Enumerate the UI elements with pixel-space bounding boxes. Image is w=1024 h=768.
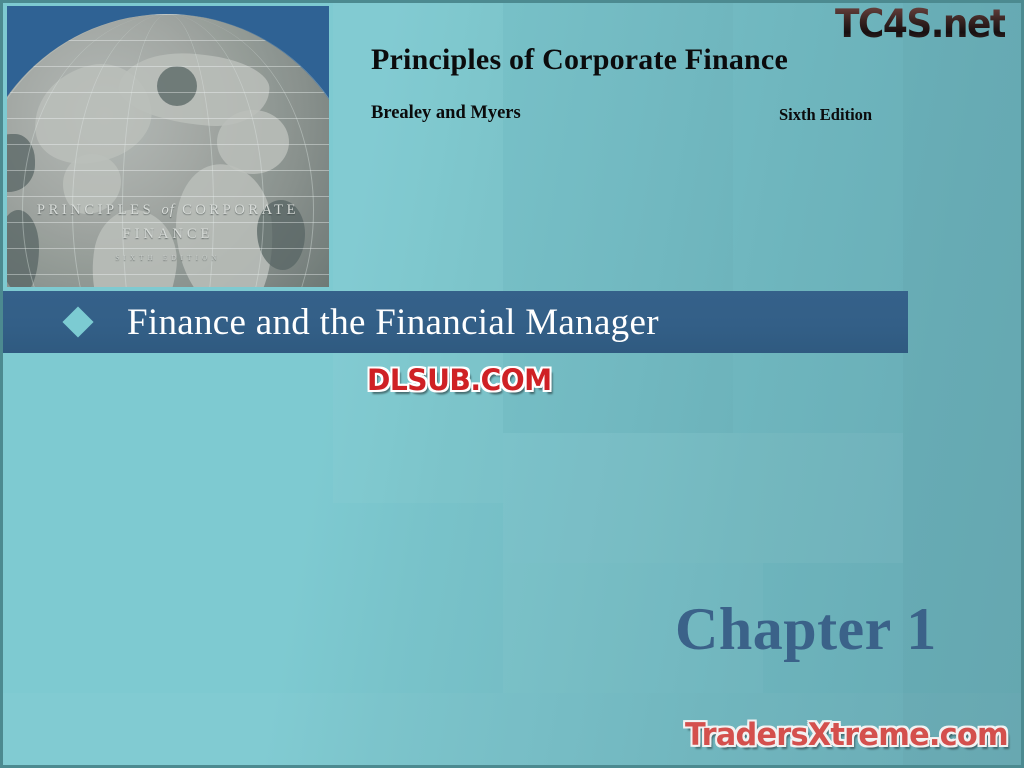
book-edition: Sixth Edition (779, 105, 872, 125)
cover-title-principles: PRINCIPLES (37, 202, 154, 218)
watermark-tc4s: TC4S.net (835, 5, 1006, 44)
book-cover-typography: PRINCIPLES of CORPORATE FINANCE SIXTH ED… (7, 202, 329, 262)
watermark-tradersxtreme: TradersXtreme.com (685, 720, 1008, 751)
slide-title-text: Finance and the Financial Manager (127, 304, 659, 341)
background-panel-c (503, 433, 903, 563)
presentation-slide: PRINCIPLES of CORPORATE FINANCE SIXTH ED… (0, 0, 1024, 768)
cover-title-line-2: FINANCE (7, 226, 329, 243)
background-panel-a (333, 3, 503, 503)
page-title: Principles of Corporate Finance (371, 43, 788, 77)
watermark-dlsub: DLSUB.COM (367, 366, 552, 395)
book-cover-image: PRINCIPLES of CORPORATE FINANCE SIXTH ED… (7, 6, 329, 287)
chapter-label: Chapter 1 (675, 595, 937, 664)
cover-title-line-3: SIXTH EDITION (7, 254, 329, 262)
cover-title-line-1: PRINCIPLES of CORPORATE (7, 202, 329, 219)
diamond-bullet-icon (62, 306, 93, 337)
cover-title-corporate: CORPORATE (182, 202, 299, 218)
book-authors: Brealey and Myers (371, 103, 521, 124)
cover-title-of: of (162, 202, 175, 218)
slide-title-banner: Finance and the Financial Manager (3, 291, 908, 353)
